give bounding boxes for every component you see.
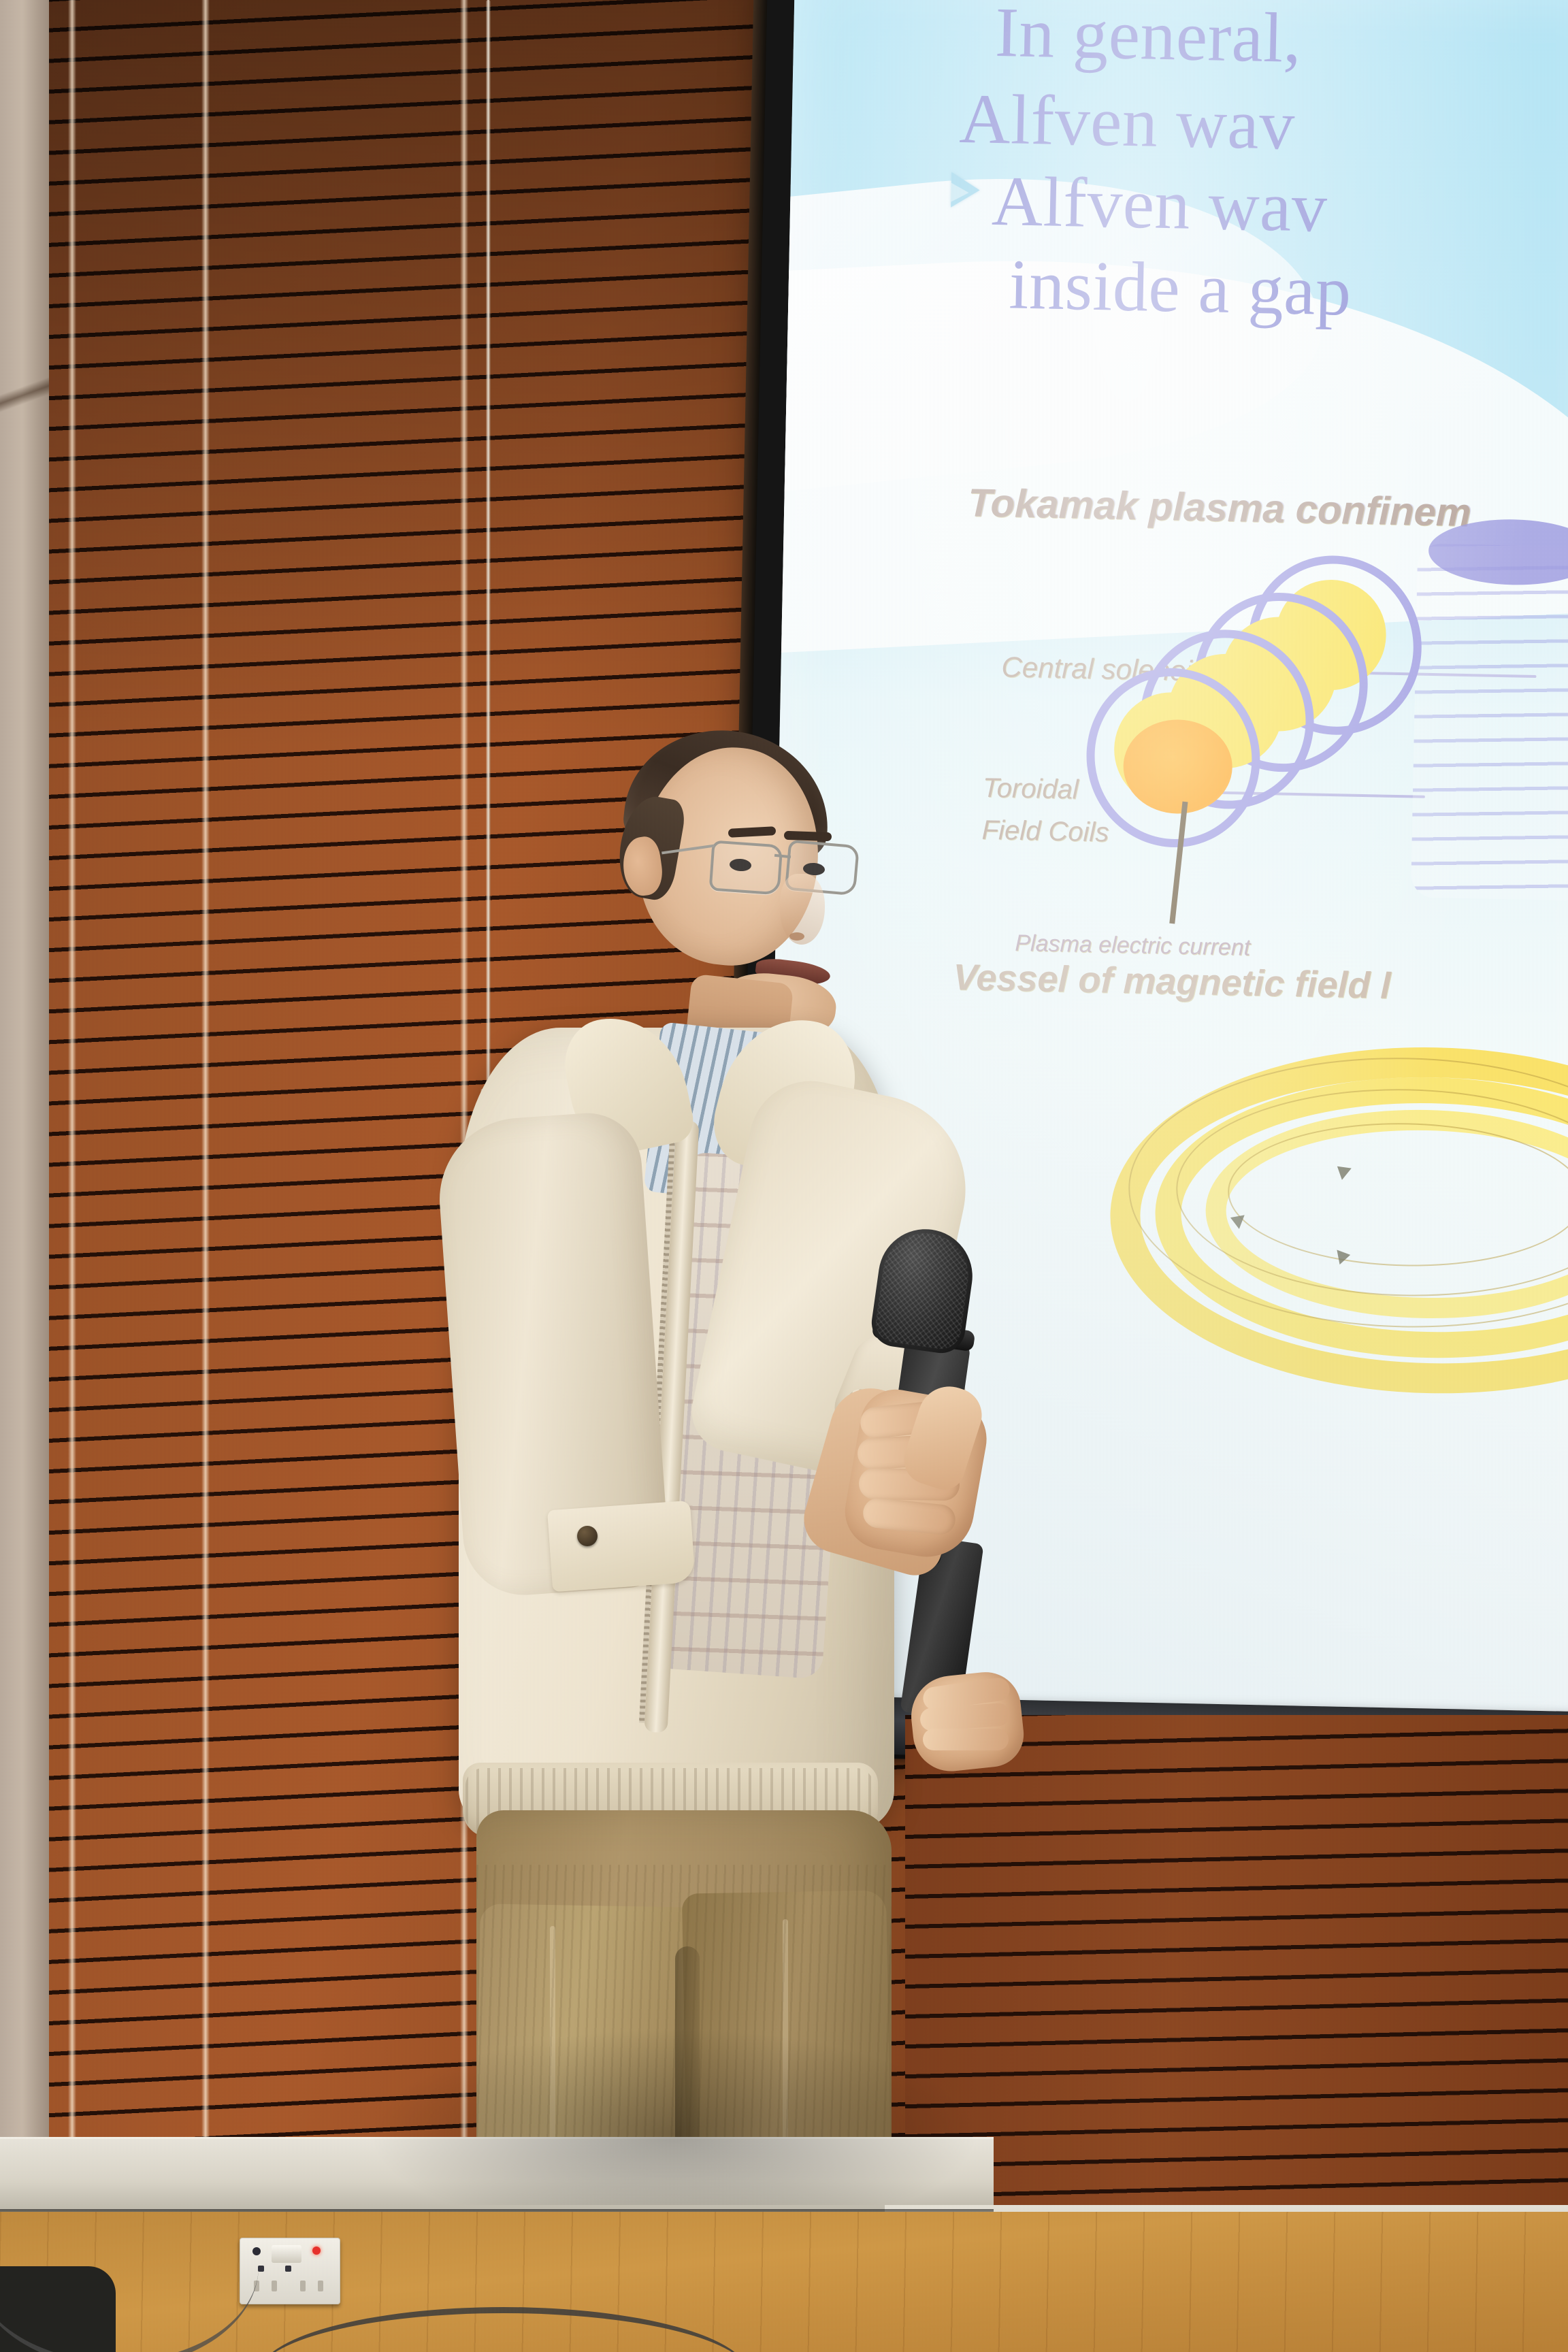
- socket-outlet-slot[interactable]: [300, 2281, 306, 2291]
- socket-screw: [285, 2266, 291, 2272]
- eyeglass-lens-left: [709, 840, 783, 895]
- socket-outlet-slot[interactable]: [272, 2281, 277, 2291]
- socket-rocker-switch[interactable]: [272, 2245, 301, 2263]
- presenter-nostril: [789, 932, 804, 941]
- presenter-knuckle: [923, 1729, 1009, 1750]
- presentation-photo-scene: In general, Alfven wav Alfven wav inside…: [0, 0, 1568, 2352]
- wall-plaster-column: [0, 0, 49, 2144]
- socket-screw: [258, 2266, 264, 2272]
- presenter-eyebrow: [784, 831, 832, 841]
- slide-bullet-3: Alfven wav: [991, 161, 1328, 249]
- slide-bullet-text-block: In general, Alfven wav Alfven wav inside…: [786, 0, 1568, 425]
- wall-panel-seam: [201, 0, 210, 2151]
- socket-outlet-slot[interactable]: [318, 2281, 323, 2291]
- jacket-pocket: [547, 1501, 696, 1592]
- socket-screw: [252, 2247, 261, 2255]
- jacket-pocket-button: [577, 1526, 598, 1546]
- torus-direction-arrow-icon: [1337, 1247, 1352, 1264]
- socket-indicator-light: [312, 2247, 321, 2255]
- slide-bullet-2: Alfven wav: [959, 78, 1296, 167]
- slide-bullet-1: In general,: [994, 0, 1302, 80]
- wall-panel-seam: [68, 0, 76, 2151]
- slide-bullet-4: inside a gap: [1009, 244, 1352, 333]
- diagram-magnetic-torus: [1107, 1041, 1568, 1373]
- diagram-solenoid-stack: [1411, 544, 1568, 901]
- presenter-floor-shadow: [367, 2028, 980, 2205]
- arrow-bullet-icon: [951, 172, 980, 208]
